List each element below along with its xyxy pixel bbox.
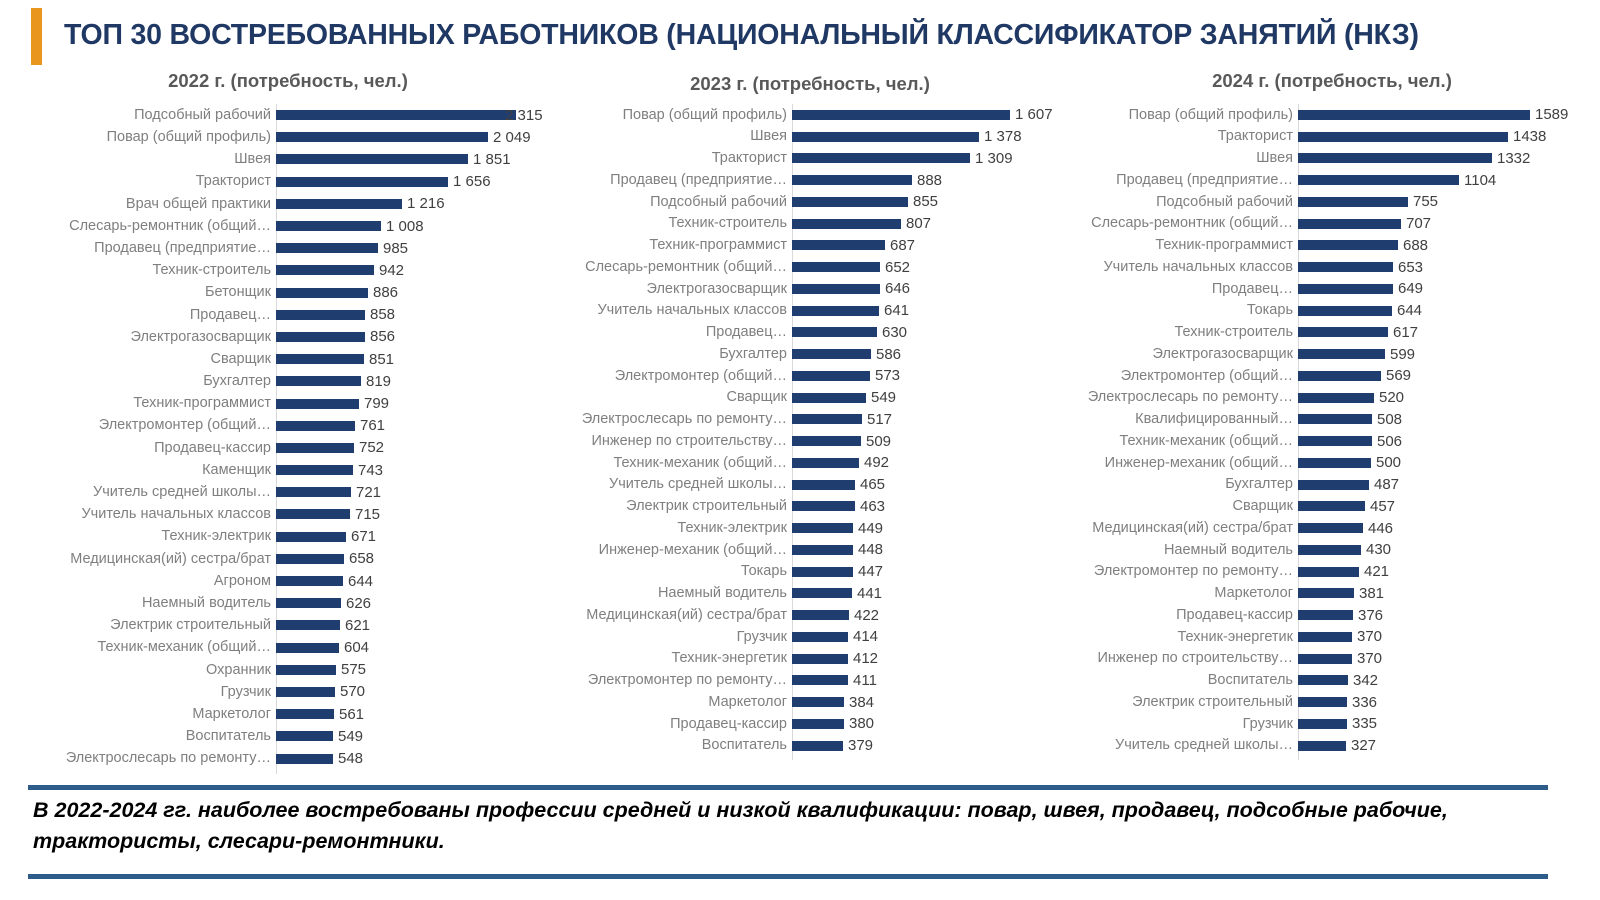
- bar-value-label: 446: [1363, 521, 1393, 536]
- bar: [276, 243, 378, 253]
- bar-row: Электрик строительный336: [1070, 691, 1594, 713]
- bar-value-label: 671: [346, 529, 376, 544]
- bar-track: 626: [276, 592, 548, 614]
- bar: [792, 393, 866, 403]
- bar-value-label: 626: [341, 596, 371, 611]
- bar-value-label: 688: [1398, 238, 1428, 253]
- bar-value-label: 807: [901, 216, 931, 231]
- bar: [276, 177, 448, 187]
- bar-category-label: Квалифицированный…: [1070, 412, 1298, 427]
- bar-track: 376: [1298, 604, 1594, 626]
- chart-panel-2022: 2022 г. (потребность, чел.) Подсобный ра…: [28, 66, 548, 782]
- bar: [1298, 480, 1369, 490]
- bar-value-label: 644: [343, 574, 373, 589]
- bar-category-label: Наемный водитель: [28, 596, 276, 611]
- bar-value-label: 721: [351, 485, 381, 500]
- bar-value-label: 819: [361, 374, 391, 389]
- bar-track: 549: [792, 387, 1064, 409]
- bar-category-label: Электромонтер по ремонту…: [556, 673, 792, 688]
- bar: [792, 175, 912, 185]
- bar-value-label: 1589: [1530, 107, 1568, 122]
- bar-row: Инженер-механик (общий…500: [1070, 452, 1594, 474]
- bar-row: Агроном644: [28, 570, 548, 592]
- bar-category-label: Электромонтер по ремонту…: [1070, 564, 1298, 579]
- bar: [792, 545, 853, 555]
- bar-row: Слесарь-ремонтник (общий…1 008: [28, 215, 548, 237]
- bar-row: Бухгалтер487: [1070, 474, 1594, 496]
- bar-row: Продавец (предприятие…1104: [1070, 169, 1594, 191]
- bar-category-label: Швея: [556, 129, 792, 144]
- bar-category-label: Каменщик: [28, 463, 276, 478]
- bar-value-label: 856: [365, 329, 395, 344]
- bar-value-label: 508: [1372, 412, 1402, 427]
- bar: [1298, 675, 1348, 685]
- bar-track: 688: [1298, 235, 1594, 257]
- bar-category-label: Учитель средней школы…: [556, 477, 792, 492]
- bar: [792, 219, 901, 229]
- chart-title-2023: 2023 г. (потребность, чел.): [556, 66, 1064, 100]
- bar: [792, 284, 880, 294]
- bar-category-label: Электрослесарь по ремонту…: [1070, 390, 1298, 405]
- bar-track: 687: [792, 235, 1064, 257]
- bar-row: Воспитатель342: [1070, 670, 1594, 692]
- bar-track: 851: [276, 348, 548, 370]
- bar-value-label: 755: [1408, 194, 1438, 209]
- bar-track: 1 851: [276, 148, 548, 170]
- bar-category-label: Продавец-кассир: [1070, 608, 1298, 623]
- bar: [792, 523, 853, 533]
- bar: [792, 153, 970, 163]
- bar-track: 2 049: [276, 126, 548, 148]
- bar-category-label: Техник-энергетик: [1070, 630, 1298, 645]
- bar-row: Электрогазосварщик856: [28, 326, 548, 348]
- bar-category-label: Техник-строитель: [556, 216, 792, 231]
- bar-track: 599: [1298, 343, 1594, 365]
- bar: [276, 643, 339, 653]
- bar-track: 548: [276, 747, 548, 769]
- bar: [1298, 545, 1361, 555]
- bar-category-label: Техник-программист: [556, 238, 792, 253]
- bar-rows-2022: Подсобный рабочий2 315Повар (общий профи…: [28, 100, 548, 770]
- bar: [276, 687, 335, 697]
- bar-track: 448: [792, 539, 1064, 561]
- chart-title-2022: 2022 г. (потребность, чел.): [28, 66, 548, 100]
- bar: [276, 754, 333, 764]
- bar-category-label: Инженер-механик (общий…: [1070, 456, 1298, 471]
- bar-value-label: 412: [848, 651, 878, 666]
- bar-category-label: Бухгалтер: [28, 374, 276, 389]
- bar-track: 641: [792, 300, 1064, 322]
- bar: [276, 132, 488, 142]
- bar-value-label: 644: [1392, 303, 1422, 318]
- bar-value-label: 336: [1347, 695, 1377, 710]
- bar-track: 752: [276, 437, 548, 459]
- bar-track: 506: [1298, 430, 1594, 452]
- bar-track: 430: [1298, 539, 1594, 561]
- bar-row: Швея1 378: [556, 126, 1064, 148]
- bar: [1298, 414, 1372, 424]
- bar-row: Техник-строитель807: [556, 213, 1064, 235]
- bar-track: 799: [276, 392, 548, 414]
- chart-panel-2023: 2023 г. (потребность, чел.) Повар (общий…: [556, 66, 1064, 782]
- bar-value-label: 327: [1346, 738, 1376, 753]
- bar-track: 1 607: [792, 104, 1064, 126]
- bar-row: Подсобный рабочий755: [1070, 191, 1594, 213]
- bar-track: 492: [792, 452, 1064, 474]
- bar-category-label: Подсобный рабочий: [28, 108, 276, 123]
- bar: [1298, 719, 1347, 729]
- bar: [1298, 588, 1354, 598]
- bar-category-label: Воспитатель: [28, 729, 276, 744]
- bar-track: 1104: [1298, 169, 1594, 191]
- bar-category-label: Электрослесарь по ремонту…: [28, 751, 276, 766]
- bar-category-label: Учитель начальных классов: [556, 303, 792, 318]
- bar: [792, 349, 871, 359]
- bar-track: 569: [1298, 365, 1594, 387]
- bar-value-label: 630: [877, 325, 907, 340]
- bar-track: 1438: [1298, 126, 1594, 148]
- bar: [1298, 371, 1381, 381]
- bar-category-label: Грузчик: [28, 685, 276, 700]
- bar-row: Тракторист1 656: [28, 171, 548, 193]
- bar-value-label: 1 656: [448, 174, 491, 189]
- bar-category-label: Токарь: [1070, 303, 1298, 318]
- bar: [1298, 197, 1408, 207]
- bar-row: Медицинская(ий) сестра/брат422: [556, 604, 1064, 626]
- bar-value-label: 414: [848, 629, 878, 644]
- bar: [792, 414, 862, 424]
- footer-note: В 2022-2024 гг. наиболее востребованы пр…: [33, 795, 1555, 856]
- bar-track: 630: [792, 322, 1064, 344]
- bar-value-label: 492: [859, 455, 889, 470]
- bar-category-label: Воспитатель: [1070, 673, 1298, 688]
- bar-category-label: Бухгалтер: [556, 347, 792, 362]
- bar: [276, 354, 364, 364]
- bar: [1298, 610, 1353, 620]
- bar-category-label: Техник-электрик: [556, 521, 792, 536]
- bar-row: Электромонтер по ремонту…421: [1070, 561, 1594, 583]
- bar-category-label: Продавец…: [556, 325, 792, 340]
- bar: [276, 310, 365, 320]
- bar-value-label: 621: [340, 618, 370, 633]
- bar-track: 1 309: [792, 148, 1064, 170]
- bar-category-label: Маркетолог: [28, 707, 276, 722]
- bar: [1298, 262, 1393, 272]
- bar-row: Техник-механик (общий…604: [28, 637, 548, 659]
- bar: [276, 332, 365, 342]
- bar-track: 1 008: [276, 215, 548, 237]
- bar: [1298, 523, 1363, 533]
- bar-row: Учитель средней школы…465: [556, 474, 1064, 496]
- bar-category-label: Техник-электрик: [28, 529, 276, 544]
- bar: [1298, 567, 1359, 577]
- bar-row: Бетонщик886: [28, 282, 548, 304]
- bar-row: Техник-электрик449: [556, 517, 1064, 539]
- bar: [1298, 327, 1388, 337]
- bar-row: Продавец-кассир752: [28, 437, 548, 459]
- bar-value-label: 421: [1359, 564, 1389, 579]
- bar: [1298, 219, 1401, 229]
- bar-category-label: Маркетолог: [1070, 586, 1298, 601]
- bar-track: 487: [1298, 474, 1594, 496]
- bar-category-label: Электрик строительный: [1070, 695, 1298, 710]
- bar-value-label: 430: [1361, 542, 1391, 557]
- bar-track: 1 378: [792, 126, 1064, 148]
- bar: [792, 697, 844, 707]
- bar-track: 381: [1298, 583, 1594, 605]
- bar-value-label: 520: [1374, 390, 1404, 405]
- bar: [276, 576, 343, 586]
- bar-value-label: 411: [848, 673, 877, 688]
- bar: [1298, 632, 1352, 642]
- bar: [1298, 240, 1398, 250]
- bar-category-label: Воспитатель: [556, 738, 792, 753]
- bar-value-label: 380: [844, 716, 874, 731]
- bar-value-label: 1 378: [979, 129, 1022, 144]
- bar-track: 449: [792, 517, 1064, 539]
- bar: [276, 487, 351, 497]
- bar-track: 707: [1298, 213, 1594, 235]
- bar-value-label: 851: [364, 352, 394, 367]
- bar-row: Воспитатель549: [28, 725, 548, 747]
- bar-value-label: 715: [350, 507, 380, 522]
- bar-row: Инженер-механик (общий…448: [556, 539, 1064, 561]
- bar-value-label: 517: [862, 412, 892, 427]
- bar-track: 384: [792, 691, 1064, 713]
- bar-row: Бухгалтер819: [28, 370, 548, 392]
- bar-value-label: 1 851: [468, 152, 511, 167]
- bar-row: Электромонтер (общий…573: [556, 365, 1064, 387]
- bar-category-label: Инженер по строительству…: [556, 434, 792, 449]
- bar-row: Токарь644: [1070, 300, 1594, 322]
- bar-value-label: 604: [339, 640, 369, 655]
- bar-row: Электрослесарь по ремонту…548: [28, 747, 548, 769]
- bar-track: 335: [1298, 713, 1594, 735]
- bar-category-label: Грузчик: [556, 630, 792, 645]
- bar-category-label: Продавец…: [28, 308, 276, 323]
- bar-track: 447: [792, 561, 1064, 583]
- bar-value-label: 652: [880, 260, 910, 275]
- bar-value-label: 573: [870, 368, 900, 383]
- bar-row: Повар (общий профиль)2 049: [28, 126, 548, 148]
- bar-category-label: Учитель средней школы…: [28, 485, 276, 500]
- bar-track: 617: [1298, 322, 1594, 344]
- bar-category-label: Сварщик: [1070, 499, 1298, 514]
- bar-category-label: Инженер-механик (общий…: [556, 543, 792, 558]
- bar-value-label: 335: [1347, 716, 1377, 731]
- bar-track: 985: [276, 237, 548, 259]
- bar-track: 858: [276, 304, 548, 326]
- bar-row: Продавец…858: [28, 304, 548, 326]
- footer-rule-bottom: [28, 874, 1548, 879]
- bar-category-label: Тракторист: [1070, 129, 1298, 144]
- bar: [276, 376, 361, 386]
- bar: [1298, 741, 1346, 751]
- bar-category-label: Техник-механик (общий…: [28, 640, 276, 655]
- bar-row: Техник-электрик671: [28, 526, 548, 548]
- bar-track: 658: [276, 548, 548, 570]
- bar-track: 520: [1298, 387, 1594, 409]
- bar-row: Сварщик549: [556, 387, 1064, 409]
- bar-track: 508: [1298, 409, 1594, 431]
- bar-category-label: Электрогазосварщик: [1070, 347, 1298, 362]
- bar-value-label: 1 607: [1010, 107, 1053, 122]
- bar-category-label: Бухгалтер: [1070, 477, 1298, 492]
- bar-track: 422: [792, 604, 1064, 626]
- bar-category-label: Наемный водитель: [1070, 543, 1298, 558]
- bar-value-label: 858: [365, 307, 395, 322]
- bar-row: Учитель начальных классов715: [28, 503, 548, 525]
- bar-category-label: Продавец (предприятие…: [28, 241, 276, 256]
- bar-row: Квалифицированный…508: [1070, 409, 1594, 431]
- bar-row: Техник-программист687: [556, 235, 1064, 257]
- bar-value-label: 855: [908, 194, 938, 209]
- bar-track: 517: [792, 409, 1064, 431]
- bar-row: Швея1 851: [28, 148, 548, 170]
- bar-category-label: Учитель начальных классов: [28, 507, 276, 522]
- chart-title-2024: 2024 г. (потребность, чел.): [1070, 66, 1594, 100]
- bar: [792, 567, 853, 577]
- bar: [792, 240, 885, 250]
- bar-value-label: 707: [1401, 216, 1431, 231]
- bar-category-label: Токарь: [556, 564, 792, 579]
- bar: [276, 665, 336, 675]
- bar-value-label: 342: [1348, 673, 1378, 688]
- bar-track: 342: [1298, 670, 1594, 692]
- bar-rows-2023: Повар (общий профиль)1 607Швея1 378Тракт…: [556, 100, 1064, 757]
- footer-rule-top: [28, 785, 1548, 790]
- bar-value-label: 384: [844, 695, 874, 710]
- bar-track: 942: [276, 259, 548, 281]
- bar-row: Медицинская(ий) сестра/брат446: [1070, 517, 1594, 539]
- bar-category-label: Электрогазосварщик: [28, 330, 276, 345]
- bar-category-label: Продавец-кассир: [556, 717, 792, 732]
- bar-category-label: Техник-механик (общий…: [556, 456, 792, 471]
- bar-row: Сварщик851: [28, 348, 548, 370]
- bar-category-label: Инженер по строительству…: [1070, 651, 1298, 666]
- bar-track: 570: [276, 681, 548, 703]
- bar-row: Сварщик457: [1070, 496, 1594, 518]
- bar: [792, 371, 870, 381]
- bar-row: Маркетолог381: [1070, 583, 1594, 605]
- bar: [1298, 132, 1508, 142]
- bar-track: 755: [1298, 191, 1594, 213]
- bar-category-label: Повар (общий профиль): [28, 130, 276, 145]
- bar: [1298, 153, 1492, 163]
- bar-row: Электрослесарь по ремонту…517: [556, 409, 1064, 431]
- bar-row: Наемный водитель626: [28, 592, 548, 614]
- bar-value-label: 549: [333, 729, 363, 744]
- bar-value-label: 2 049: [488, 130, 531, 145]
- bar-category-label: Бетонщик: [28, 285, 276, 300]
- bar-track: 457: [1298, 496, 1594, 518]
- bar-value-label: 549: [866, 390, 896, 405]
- bar-value-label: 649: [1393, 281, 1423, 296]
- bar-track: 575: [276, 659, 548, 681]
- bar-value-label: 1438: [1508, 129, 1546, 144]
- bar-category-label: Электрик строительный: [556, 499, 792, 514]
- bar-category-label: Грузчик: [1070, 717, 1298, 732]
- bar-category-label: Продавец (предприятие…: [1070, 173, 1298, 188]
- bar-row: Грузчик335: [1070, 713, 1594, 735]
- bar-value-label: 761: [355, 418, 385, 433]
- bar: [276, 199, 402, 209]
- bar-row: Каменщик743: [28, 459, 548, 481]
- bar-track: 644: [276, 570, 548, 592]
- bar: [1298, 458, 1371, 468]
- bar: [276, 620, 340, 630]
- bar-row: Учитель средней школы…327: [1070, 735, 1594, 757]
- bar-value-label: 570: [335, 684, 365, 699]
- bar-value-label: 1332: [1492, 151, 1530, 166]
- bar-track: 715: [276, 503, 548, 525]
- bar-value-label: 743: [353, 463, 383, 478]
- bar: [1298, 349, 1385, 359]
- bar-track: 1 216: [276, 193, 548, 215]
- bar-track: 649: [1298, 278, 1594, 300]
- bar: [276, 154, 468, 164]
- bar-category-label: Техник-механик (общий…: [1070, 434, 1298, 449]
- bar: [792, 262, 880, 272]
- bar-track: 411: [792, 670, 1064, 692]
- bar-value-label: 617: [1388, 325, 1418, 340]
- bar-track: 743: [276, 459, 548, 481]
- bar: [792, 458, 859, 468]
- bar-value-label: 457: [1365, 499, 1395, 514]
- bar: [276, 465, 353, 475]
- bar-track: 412: [792, 648, 1064, 670]
- bar-category-label: Продавец…: [1070, 282, 1298, 297]
- bar-value-label: 448: [853, 542, 883, 557]
- bar-row: Слесарь-ремонтник (общий…652: [556, 256, 1064, 278]
- bar-row: Продавец…630: [556, 322, 1064, 344]
- bar-category-label: Учитель начальных классов: [1070, 260, 1298, 275]
- bar-row: Тракторист1438: [1070, 126, 1594, 148]
- bar-value-label: 646: [880, 281, 910, 296]
- bar-track: 888: [792, 169, 1064, 191]
- bar-value-label: 653: [1393, 260, 1423, 275]
- bar-value-label: 379: [843, 738, 873, 753]
- bar-row: Маркетолог561: [28, 703, 548, 725]
- title-accent-bar: [31, 8, 42, 65]
- bar-category-label: Медицинская(ий) сестра/брат: [28, 552, 276, 567]
- bar-track: 644: [1298, 300, 1594, 322]
- bar-category-label: Электромонтер (общий…: [1070, 369, 1298, 384]
- bar-row: Электрик строительный621: [28, 614, 548, 636]
- bar-track: 819: [276, 370, 548, 392]
- bar-track: 421: [1298, 561, 1594, 583]
- slide-canvas: ТОП 30 ВОСТРЕБОВАННЫХ РАБОТНИКОВ (НАЦИОН…: [0, 0, 1600, 900]
- bar-row: Наемный водитель430: [1070, 539, 1594, 561]
- bar-category-label: Слесарь-ремонтник (общий…: [28, 219, 276, 234]
- bar: [1298, 697, 1347, 707]
- bar: [792, 719, 844, 729]
- bar-track: 761: [276, 415, 548, 437]
- bar-category-label: Техник-строитель: [1070, 325, 1298, 340]
- bar-category-label: Сварщик: [556, 390, 792, 405]
- bar: [792, 306, 879, 316]
- bar-value-label: 487: [1369, 477, 1399, 492]
- bar: [792, 436, 861, 446]
- bar-value-label: 799: [359, 396, 389, 411]
- bar-row: Техник-энергетик370: [1070, 626, 1594, 648]
- bar-row: Техник-механик (общий…506: [1070, 430, 1594, 452]
- bar-value-label: 569: [1381, 368, 1411, 383]
- bar-category-label: Тракторист: [28, 174, 276, 189]
- bar-value-label: 376: [1353, 608, 1383, 623]
- bar-track: 463: [792, 496, 1064, 518]
- bar-row: Инженер по строительству…370: [1070, 648, 1594, 670]
